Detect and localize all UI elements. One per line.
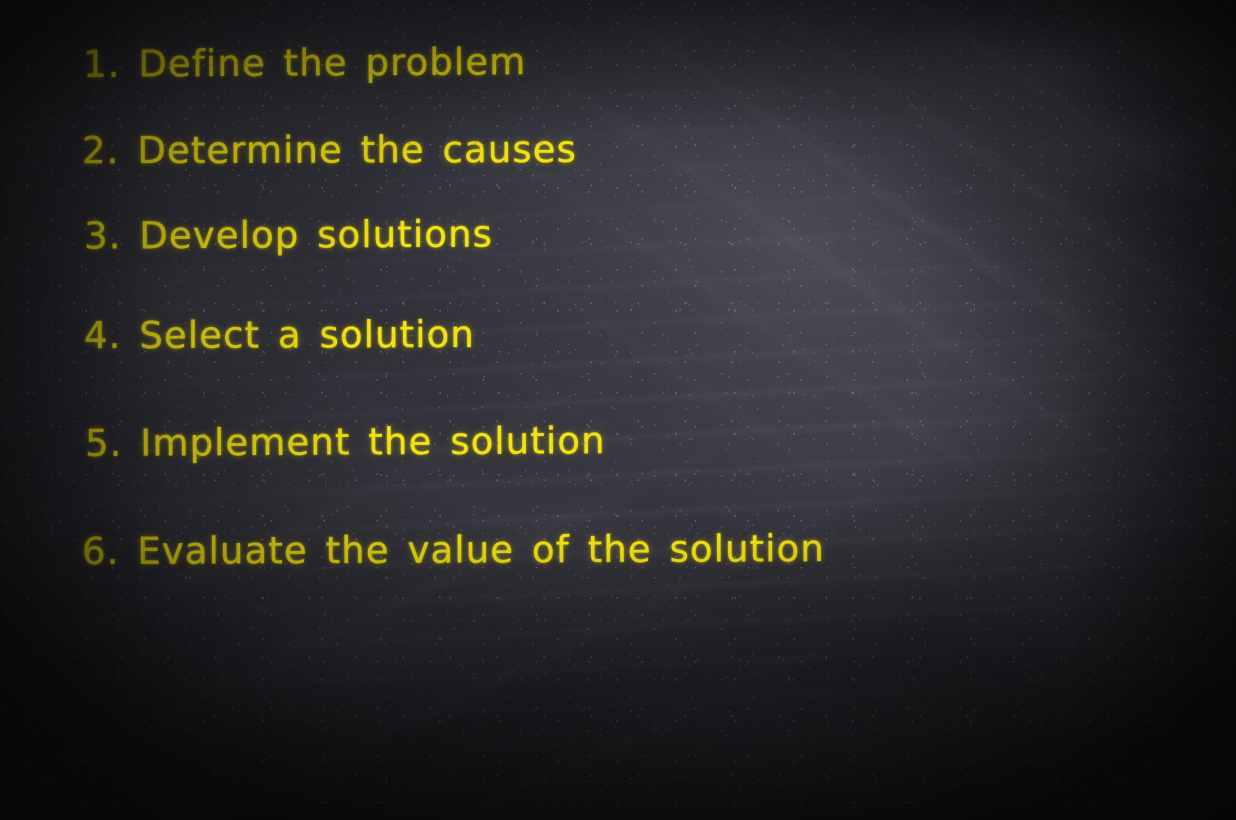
vignette-overlay — [0, 0, 1236, 820]
surface-grain-overlay — [0, 0, 1236, 820]
blackboard-surface: 1. Define the problem 2. Determine the c… — [0, 0, 1236, 820]
chalk-smudge-swirls — [0, 0, 1236, 820]
list-item-step-5: 5. Implement the solution — [85, 419, 606, 465]
list-item-step-2: 2. Determine the causes — [82, 128, 577, 172]
problem-solving-steps-list: 1. Define the problem 2. Determine the c… — [0, 0, 1236, 820]
list-item-step-1: 1. Define the problem — [83, 40, 527, 86]
list-item-step-4: 4. Select a solution — [84, 313, 475, 357]
chalk-wipe-horizontal-texture — [0, 0, 1236, 820]
list-item-step-6: 6. Evaluate the value of the solution — [82, 527, 825, 573]
list-item-step-3: 3. Develop solutions — [84, 213, 493, 258]
chalk-dust-speckle — [0, 0, 1236, 820]
chalk-wipe-diagonal-texture-upper — [0, 0, 1236, 820]
chalk-wipe-diagonal-texture-lower — [0, 0, 1236, 820]
